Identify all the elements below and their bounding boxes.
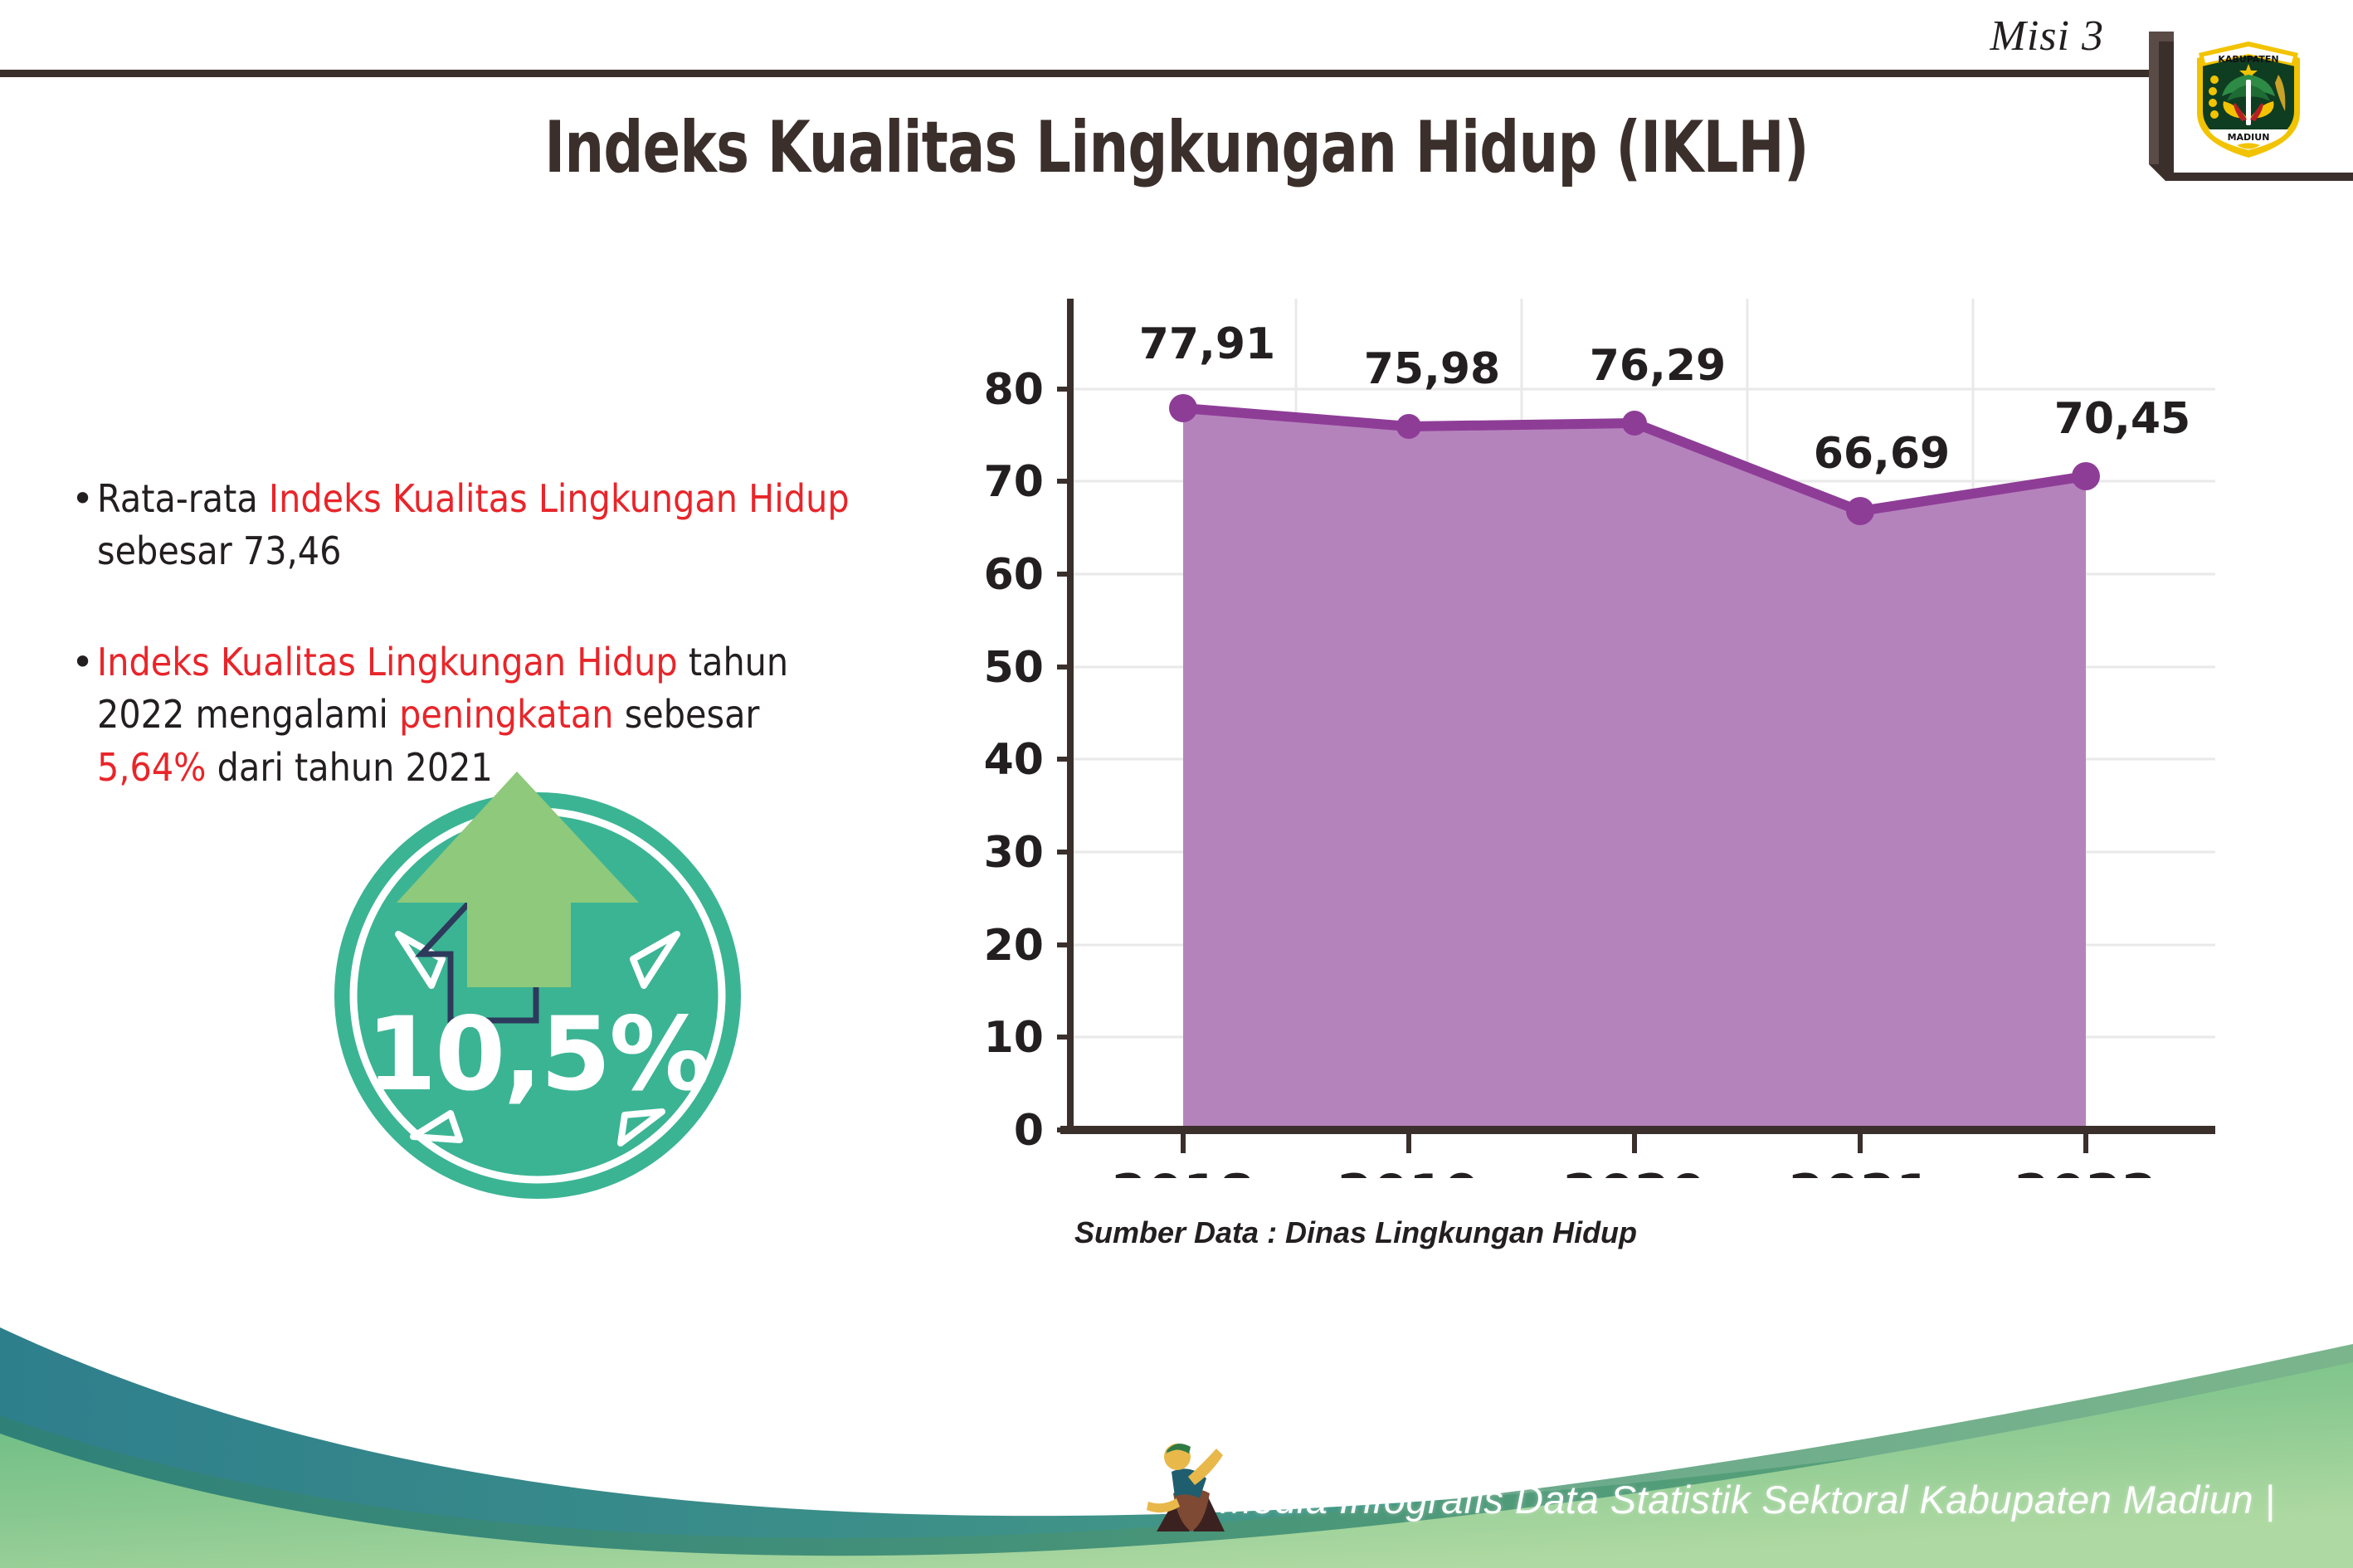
bullet-1-seg-2: sebesar 73,46	[97, 528, 341, 573]
chart-area-fill	[1183, 408, 2086, 1130]
y-tick-label: 30	[984, 828, 1044, 878]
y-tick-label: 80	[984, 365, 1044, 415]
misi-label: Misi 3	[1990, 12, 2104, 61]
badge-percent-value: 10,5%	[322, 996, 753, 1113]
bullet-text-1: Rata-rata Indeks Kualitas Lingkungan Hid…	[97, 473, 873, 578]
bullet-dot-icon: •	[71, 636, 94, 794]
y-tick-label: 10	[984, 1013, 1044, 1063]
chart-x-tick-labels: 2018 2019 2020 2021 2022	[1112, 1163, 2158, 1178]
y-tick-label: 60	[984, 550, 1044, 600]
x-tick-label: 2020	[1563, 1163, 1707, 1178]
bullet-1-seg-1: Indeks Kualitas Lingkungan Hidup	[269, 476, 850, 521]
kabupaten-madiun-emblem-icon: KABUPATEN MADIUN	[2190, 37, 2307, 161]
y-tick-label: 70	[984, 457, 1044, 507]
data-label: 70,45	[2054, 394, 2190, 444]
x-tick-label: 2018	[1112, 1163, 1255, 1178]
y-tick-label: 50	[984, 643, 1044, 693]
y-tick-label: 20	[984, 921, 1044, 971]
y-tick-label: 40	[984, 735, 1044, 785]
header-divider-line	[0, 70, 2156, 77]
svg-text:MADIUN: MADIUN	[2228, 132, 2270, 143]
bullet-1-seg-0: Rata-rata	[97, 476, 269, 521]
svg-text:KABUPATEN: KABUPATEN	[2218, 54, 2278, 65]
x-tick-label: 2019	[1337, 1163, 1481, 1178]
badge-graphic	[322, 747, 753, 1211]
y-tick-label: 0	[1014, 1106, 1044, 1156]
list-item: • Rata-rata Indeks Kualitas Lingkungan H…	[71, 473, 959, 578]
data-label: 75,98	[1364, 344, 1500, 394]
bullet-2-seg-3: sebesar	[614, 692, 760, 737]
x-tick-label: 2022	[2014, 1163, 2158, 1178]
page-title: Indeks Kualitas Lingkungan Hidup (IKLH)	[259, 106, 2094, 189]
data-label: 66,69	[1814, 429, 1950, 479]
iklh-area-chart: 0 10 20 30 40 50 60 70 80 2018 2019 2020…	[971, 290, 2215, 1178]
chart-svg: 0 10 20 30 40 50 60 70 80 2018 2019 2020…	[971, 290, 2215, 1178]
bullet-dot-icon: •	[71, 473, 94, 578]
bullet-2-seg-4: 5,64%	[97, 745, 207, 790]
data-label: 76,29	[1590, 341, 1726, 391]
chart-y-tick-labels: 0 10 20 30 40 50 60 70 80	[984, 365, 1044, 1156]
infographic-slide: Misi 3 KABUPATEN MADIUN Indeks Kualitas …	[0, 0, 2353, 1568]
chart-source-note: Sumber Data : Dinas Lingkungan Hidup	[1074, 1215, 1637, 1250]
x-tick-label: 2021	[1789, 1163, 1932, 1178]
data-label: 77,91	[1139, 319, 1275, 369]
footer-caption: Media Infografis Data Statistik Sektoral…	[1220, 1477, 2275, 1522]
increase-badge: 10,5%	[322, 747, 753, 1211]
bullet-2-seg-2: peningkatan	[399, 692, 613, 737]
bullet-2-seg-0: Indeks Kualitas Lingkungan Hidup	[97, 640, 678, 684]
